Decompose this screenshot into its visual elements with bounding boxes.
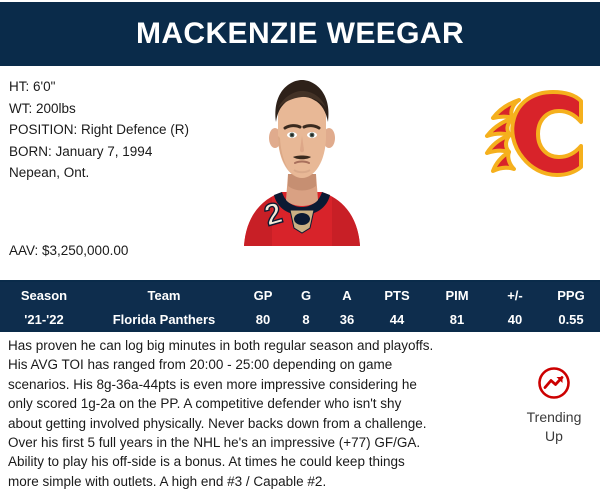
bio-position: POSITION: Right Defence (R)	[9, 119, 234, 141]
report-line: Has proven he can log big minutes in bot…	[8, 336, 516, 355]
report-line: Over his first 5 full years in the NHL h…	[8, 433, 516, 452]
bio-aav: AAV: $3,250,000.00	[9, 240, 128, 262]
cell-pts: 44	[368, 308, 426, 332]
cell-plus-minus: 40	[488, 308, 542, 332]
report-line: His AVG TOI has ranged from 20:00 - 25:0…	[8, 355, 516, 374]
cell-gp: 80	[240, 308, 286, 332]
scouting-report: Has proven he can log big minutes in bot…	[8, 336, 516, 491]
column-header-gp: GP	[240, 284, 286, 308]
column-header-pts: PTS	[368, 284, 426, 308]
cell-team: Florida Panthers	[88, 308, 240, 332]
column-header-ppg: PPG	[542, 284, 600, 308]
trending-up-icon	[512, 366, 596, 405]
report-line: about getting involved physically. Never…	[8, 414, 516, 433]
report-line: only scored 1g-2a on the PP. A competiti…	[8, 394, 516, 413]
report-line: more simple with outlets. A high end #3 …	[8, 472, 516, 491]
cell-pim: 81	[426, 308, 488, 332]
table-header-row: Season Team GP G A PTS PIM +/- PPG	[0, 284, 600, 308]
season-stats-table: Season Team GP G A PTS PIM +/- PPG '21-'…	[0, 280, 600, 332]
column-header-plus-minus: +/-	[488, 284, 542, 308]
player-bio: HT: 6'0" WT: 200lbs POSITION: Right Defe…	[9, 76, 234, 184]
cell-a: 36	[326, 308, 368, 332]
bio-born: BORN: January 7, 1994	[9, 141, 234, 163]
cell-ppg: 0.55	[542, 308, 600, 332]
table-row: '21-'22 Florida Panthers 80 8 36 44 81 4…	[0, 308, 600, 332]
column-header-pim: PIM	[426, 284, 488, 308]
player-name-header: MACKENZIE WEEGAR	[0, 2, 600, 66]
bio-weight: WT: 200lbs	[9, 98, 234, 120]
bio-hometown: Nepean, Ont.	[9, 162, 234, 184]
report-line: Ability to play his off-side is a bonus.…	[8, 452, 516, 471]
player-headshot: 2	[238, 78, 366, 246]
cell-g: 8	[286, 308, 326, 332]
trending-label-line1: Trending	[512, 408, 596, 427]
report-line: scenarios. His 8g-36a-44pts is even more…	[8, 375, 516, 394]
page-title: MACKENZIE WEEGAR	[136, 19, 464, 49]
column-header-season: Season	[0, 284, 88, 308]
status-badge: Trending Up	[512, 366, 596, 446]
column-header-team: Team	[88, 284, 240, 308]
calgary-flames-logo	[483, 82, 587, 186]
column-header-g: G	[286, 284, 326, 308]
column-header-a: A	[326, 284, 368, 308]
bio-height: HT: 6'0"	[9, 76, 234, 98]
cell-season: '21-'22	[0, 308, 88, 332]
trending-label-line2: Up	[512, 427, 596, 446]
